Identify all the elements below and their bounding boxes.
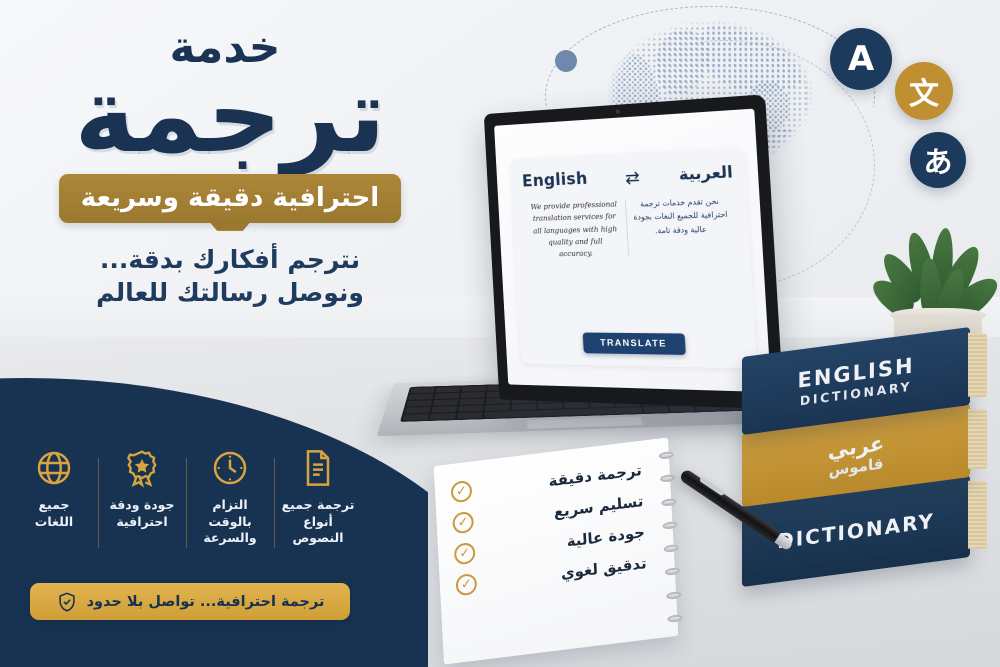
medal-icon <box>122 448 162 488</box>
shield-check-icon <box>56 591 78 613</box>
feature-label-line2: أنواع النصوص <box>278 514 358 547</box>
notepad: ترجمة دقيقة ✓ تسليم سريع ✓ جودة عالية ✓ … <box>434 438 679 665</box>
swap-languages-icon[interactable]: ⇄ <box>625 169 641 188</box>
feature-label-line2: اللغات <box>35 514 73 531</box>
globe-icon <box>34 448 74 488</box>
cta-text: ترجمة احترافية... تواصل بلا حدود <box>87 594 325 610</box>
subtitle-badge: احترافية دقيقة وسريعة <box>59 174 401 223</box>
dictionary-book-stack: DICTIONARY عربي قاموس ENGLISH DICTIONARY <box>742 342 992 598</box>
webcam-icon <box>616 110 620 114</box>
feature-document: ترجمة جميع أنواع النصوص <box>274 448 362 558</box>
check-circle-icon: ✓ <box>451 480 473 504</box>
check-circle-icon: ✓ <box>454 542 476 566</box>
features-row: ترجمة جميع أنواع النصوص التزام بالوقت وا… <box>10 448 362 558</box>
source-language-label[interactable]: English <box>522 169 588 191</box>
tagline-line-2: ونوصل رسالتك للعالم <box>0 276 460 310</box>
clock-icon <box>210 448 250 488</box>
check-circle-icon: ✓ <box>455 573 477 597</box>
feature-label-line2: والسرعة <box>190 530 270 547</box>
tagline-line-1: نترجم أفكارك بدقة... <box>0 243 460 277</box>
book-title: DICTIONARY <box>777 509 935 554</box>
laptop-trackpad[interactable] <box>527 417 643 429</box>
feature-quality: جودة ودقة احترافية <box>98 448 186 558</box>
note-text: تدقيق لغوي <box>484 554 647 592</box>
feature-label: جودة ودقة احترافية <box>110 497 175 530</box>
laptop-screen: English ⇄ العربية We provide professiona… <box>494 109 771 393</box>
bubble-label: あ <box>923 139 952 181</box>
cta-banner[interactable]: ترجمة احترافية... تواصل بلا حدود <box>30 583 350 620</box>
translate-button[interactable]: TRANSLATE <box>583 333 686 355</box>
feature-label-line1: جميع <box>35 497 73 514</box>
headline-block: خدمة ترجمة احترافية دقيقة وسريعة نترجم أ… <box>0 26 460 310</box>
feature-label-line1: ترجمة جميع <box>278 497 358 514</box>
feature-label-line2: احترافية <box>110 514 175 531</box>
target-language-label[interactable]: العربية <box>678 162 733 184</box>
target-text-area[interactable]: نحن تقدم خدمات ترجمة احترافية للجميع الن… <box>625 194 738 259</box>
feature-label: ترجمة جميع أنواع النصوص <box>278 497 358 547</box>
source-text-area[interactable]: We provide professional translation serv… <box>523 198 628 261</box>
check-circle-icon: ✓ <box>452 511 474 535</box>
feature-label-line1: التزام بالوقت <box>190 497 270 530</box>
laptop-lid: English ⇄ العربية We provide professiona… <box>484 94 784 409</box>
tagline: نترجم أفكارك بدقة... ونوصل رسالتك للعالم <box>0 243 460 310</box>
latin-letter-bubble: A <box>830 28 892 90</box>
feature-punctuality: التزام بالوقت والسرعة <box>186 448 274 558</box>
document-icon <box>298 448 338 488</box>
feature-label: التزام بالوقت والسرعة <box>190 497 270 547</box>
feature-label-line1: جودة ودقة <box>110 497 175 514</box>
page-title: ترجمة <box>0 66 460 166</box>
chinese-character-bubble: 文 <box>895 62 953 120</box>
subtitle-badge-label: احترافية دقيقة وسريعة <box>81 183 379 213</box>
japanese-kana-bubble: あ <box>910 132 966 188</box>
feature-label: جميع اللغات <box>35 497 73 530</box>
translation-app-card: English ⇄ العربية We provide professiona… <box>510 147 757 369</box>
translation-service-poster: A 文 あ <box>0 0 1000 667</box>
bubble-label: A <box>848 39 874 79</box>
bubble-label: 文 <box>909 69 939 113</box>
feature-languages: جميع اللغات <box>10 448 98 558</box>
